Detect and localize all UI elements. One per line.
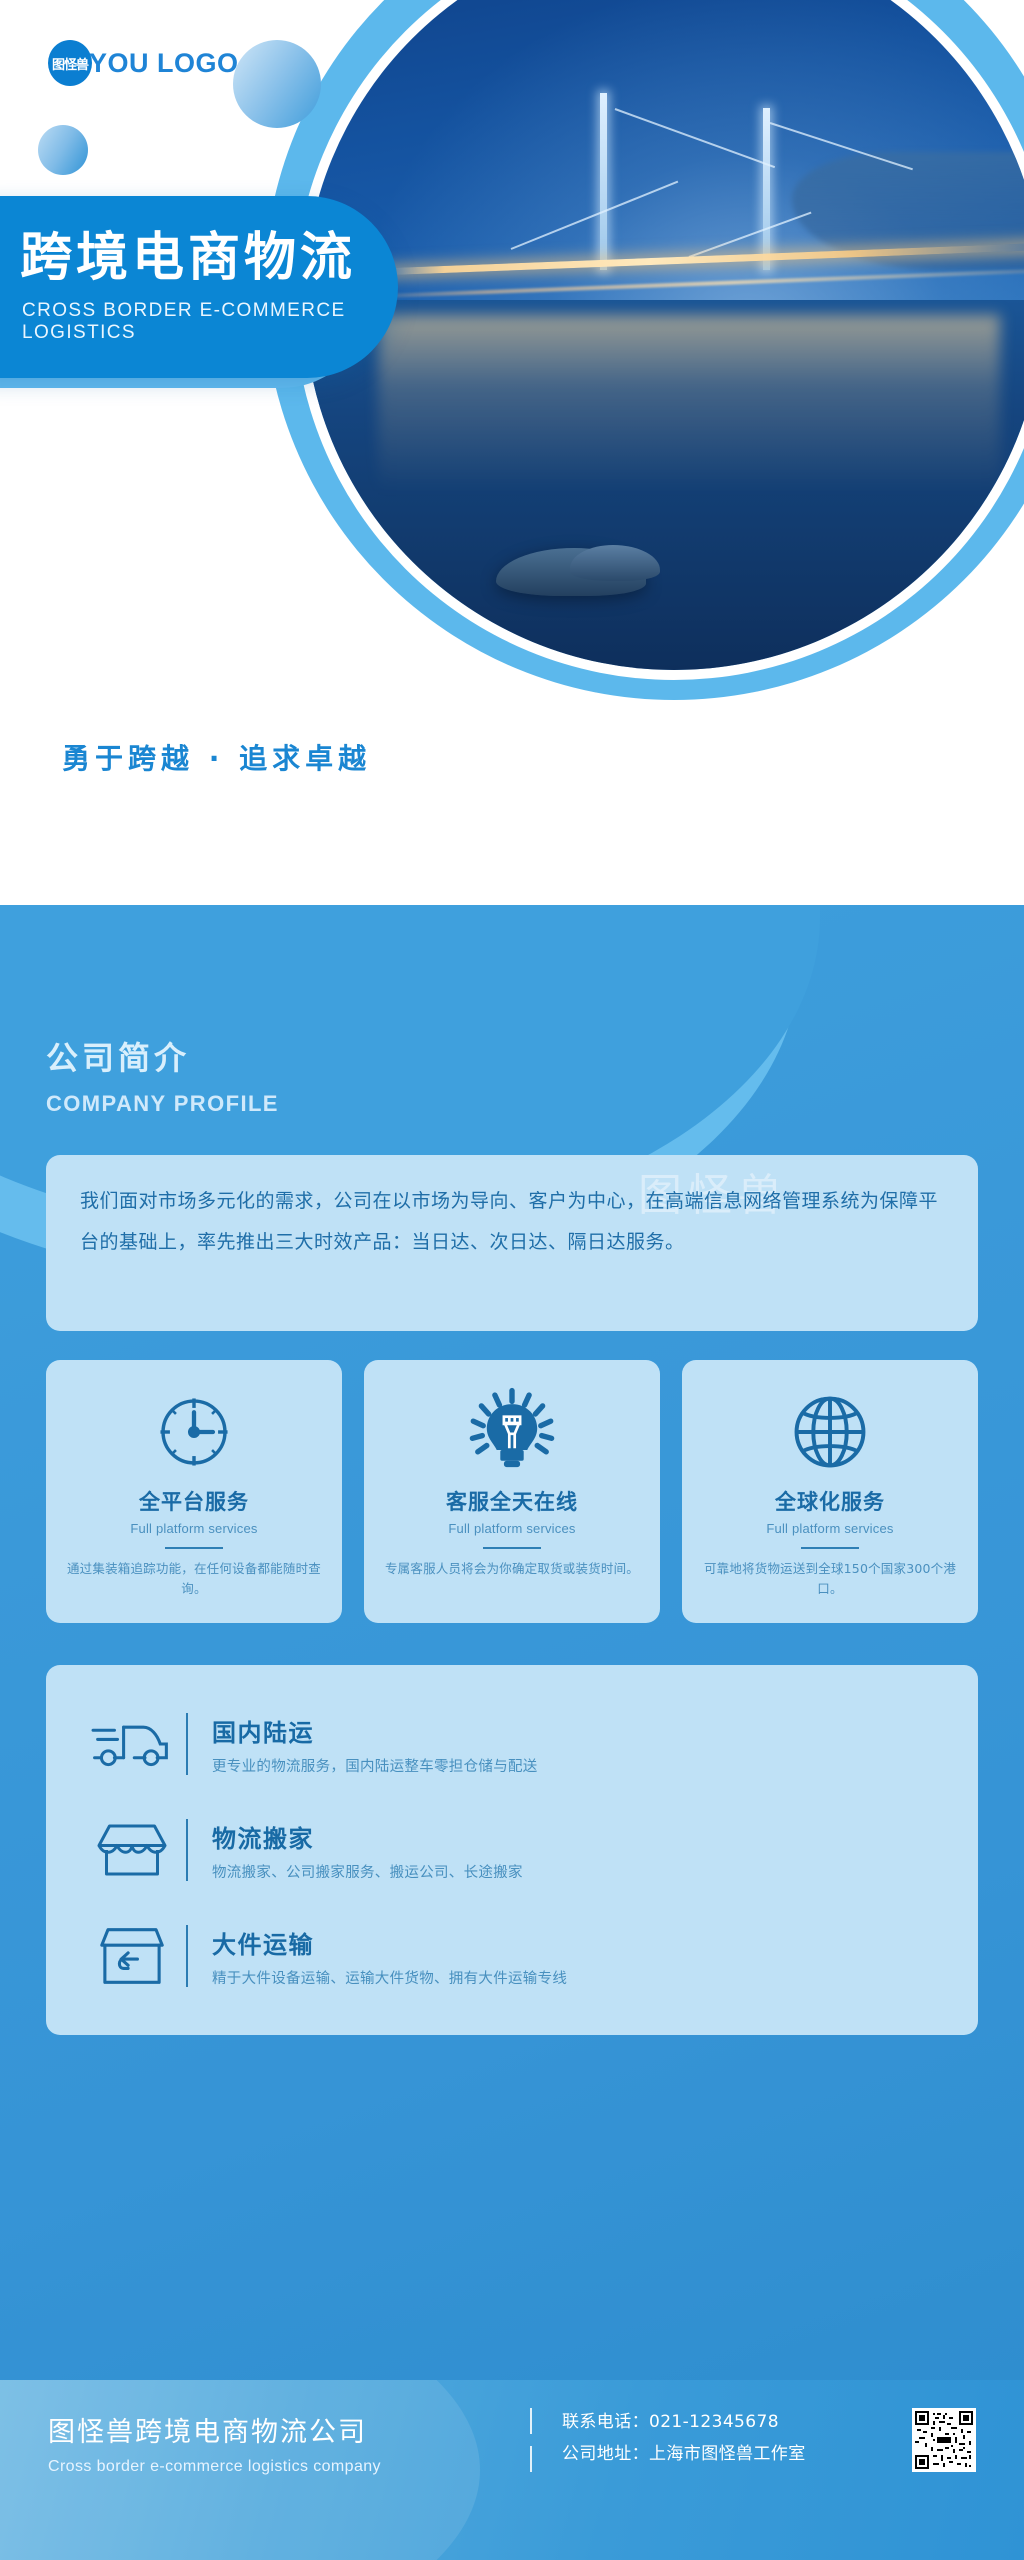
footer-contact: 联系电话：021-12345678 公司地址：上海市图怪兽工作室	[562, 2406, 806, 2470]
service-text: 国内陆运 更专业的物流服务，国内陆运整车零担仓储与配送	[212, 1713, 940, 1776]
feature-card-subtitle: Full platform services	[766, 1521, 893, 1536]
hero-section: 图怪兽 YOU LOGO 跨境电商物流 CROSS BORDER E-COMME…	[0, 0, 1024, 900]
feature-card-title: 全平台服务	[139, 1486, 249, 1516]
service-title: 物流搬家	[212, 1819, 940, 1854]
package-return-icon	[84, 1925, 180, 1987]
logo-text: YOU LOGO	[89, 48, 239, 79]
feature-card-description: 通过集装箱追踪功能，在任何设备都能随时查询。	[62, 1559, 326, 1599]
logo[interactable]: 图怪兽 YOU LOGO	[48, 40, 239, 86]
bridge-pylon-right	[763, 108, 770, 271]
footer: 图怪兽跨境电商物流公司 Cross border e-commerce logi…	[0, 2380, 1024, 2560]
service-row-domestic[interactable]: 国内陆运 更专业的物流服务，国内陆运整车零担仓储与配送	[46, 1713, 978, 1776]
service-text: 物流搬家 物流搬家、公司搬家服务、搬运公司、长途搬家	[212, 1819, 940, 1882]
footer-address: 公司地址：上海市图怪兽工作室	[562, 2438, 806, 2470]
divider	[186, 1925, 188, 1987]
service-text: 大件运输 精于大件设备运输、运输大件货物、拥有大件运输专线	[212, 1925, 940, 1988]
truck-icon	[84, 1714, 180, 1774]
feature-card-support[interactable]: 客服全天在线 Full platform services 专属客服人员将会为你…	[364, 1360, 660, 1623]
divider	[801, 1547, 859, 1549]
company-description-box: 图怪兽 我们面对市场多元化的需求，公司在以市场为导向、客户为中心，在高端信息网络…	[46, 1155, 978, 1331]
globe-icon	[786, 1386, 874, 1478]
section-heading: 公司简介 COMPANY PROFILE	[46, 1033, 279, 1117]
service-row-moving[interactable]: 物流搬家 物流搬家、公司搬家服务、搬运公司、长途搬家	[46, 1819, 978, 1882]
footer-company-cn: 图怪兽跨境电商物流公司	[48, 2410, 381, 2449]
decorative-bubble-small	[38, 125, 88, 175]
section-heading-en: COMPANY PROFILE	[46, 1091, 279, 1117]
feature-card-description: 可靠地将货物运送到全球150个国家300个港口。	[698, 1559, 962, 1599]
feature-card-clock[interactable]: 全平台服务 Full platform services 通过集装箱追踪功能，在…	[46, 1360, 342, 1623]
feature-card-global[interactable]: 全球化服务 Full platform services 可靠地将货物运送到全球…	[682, 1360, 978, 1623]
service-description: 更专业的物流服务，国内陆运整车零担仓储与配送	[212, 1755, 940, 1776]
footer-phone: 联系电话：021-12345678	[562, 2406, 806, 2438]
service-row-oversized[interactable]: 大件运输 精于大件设备运输、运输大件货物、拥有大件运输专线	[46, 1925, 978, 1988]
bridge-pylon-left	[600, 93, 607, 271]
feature-card-subtitle: Full platform services	[130, 1521, 257, 1536]
poster-root: 图怪兽 YOU LOGO 跨境电商物流 CROSS BORDER E-COMME…	[0, 0, 1024, 2560]
feature-card-title: 客服全天在线	[446, 1486, 578, 1516]
decorative-bubble-large	[233, 40, 321, 128]
logo-mark-icon: 图怪兽	[48, 40, 92, 86]
hero-title-cn: 跨境电商物流	[20, 232, 356, 284]
clock-icon	[151, 1386, 237, 1478]
service-title: 国内陆运	[212, 1713, 940, 1748]
services-list: 国内陆运 更专业的物流服务，国内陆运整车零担仓储与配送 物流搬家 物流搬家、公司…	[46, 1665, 978, 2035]
divider	[483, 1547, 541, 1549]
footer-company-en: Cross border e-commerce logistics compan…	[48, 2458, 381, 2476]
hero-title-en: CROSS BORDER E-COMMERCE LOGISTICS	[22, 300, 398, 344]
feature-card-subtitle: Full platform services	[448, 1521, 575, 1536]
light-reflection	[378, 315, 1000, 493]
feature-cards: 全平台服务 Full platform services 通过集装箱追踪功能，在…	[46, 1360, 978, 1623]
feature-card-title: 全球化服务	[775, 1486, 885, 1516]
divider	[186, 1819, 188, 1881]
service-title: 大件运输	[212, 1925, 940, 1960]
lightbulb-icon	[467, 1386, 557, 1478]
footer-company: 图怪兽跨境电商物流公司 Cross border e-commerce logi…	[48, 2410, 381, 2476]
company-description: 我们面对市场多元化的需求，公司在以市场为导向、客户为中心，在高端信息网络管理系统…	[80, 1181, 944, 1263]
section-heading-cn: 公司简介	[46, 1033, 279, 1079]
content-section: 公司简介 COMPANY PROFILE 图怪兽 我们面对市场多元化的需求，公司…	[0, 905, 1024, 2380]
bridge-photo	[304, 0, 1024, 670]
title-banner: 跨境电商物流 CROSS BORDER E-COMMERCE LOGISTICS	[0, 196, 398, 378]
bridge-photo-circle	[304, 0, 1024, 670]
divider	[165, 1547, 223, 1549]
service-description: 物流搬家、公司搬家服务、搬运公司、长途搬家	[212, 1861, 940, 1882]
store-icon	[84, 1820, 180, 1880]
hero-tagline: 勇于跨越 · 追求卓越	[62, 737, 371, 777]
footer-divider-top	[530, 2408, 532, 2434]
qr-code-icon[interactable]	[912, 2408, 976, 2472]
feature-card-description: 专属客服人员将会为你确定取货或装货时间。	[385, 1559, 639, 1579]
footer-divider-bottom	[530, 2446, 532, 2472]
service-description: 精于大件设备运输、运输大件货物、拥有大件运输专线	[212, 1967, 940, 1988]
divider	[186, 1713, 188, 1775]
